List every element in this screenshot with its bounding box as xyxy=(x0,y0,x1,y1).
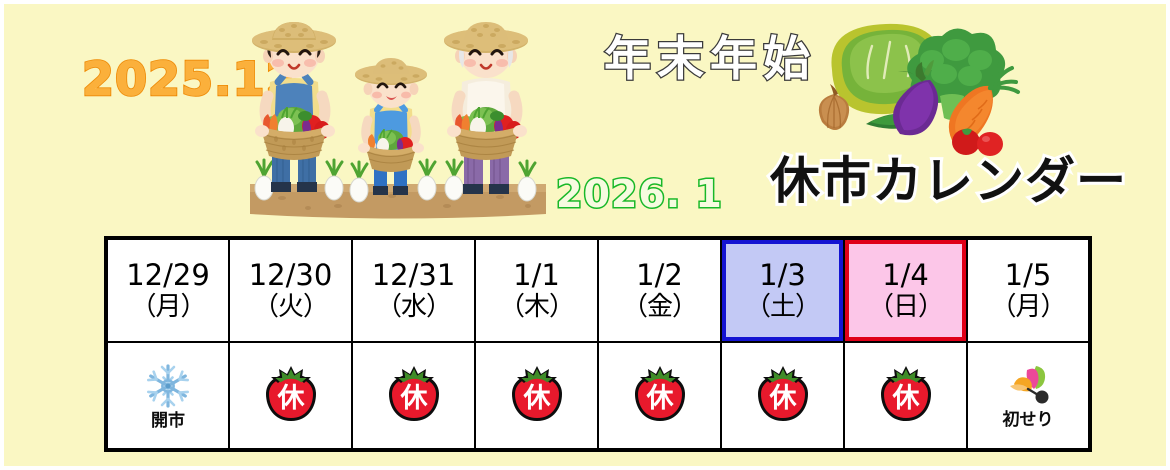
date-number: 12/30 xyxy=(249,258,333,292)
calendar-poster: 2025.12 xyxy=(0,0,1170,470)
date-number: 1/3 xyxy=(759,258,806,292)
date-number: 1/5 xyxy=(1005,258,1052,292)
svg-text:休: 休 xyxy=(891,383,920,414)
svg-text:休: 休 xyxy=(399,383,428,414)
date-number: 1/4 xyxy=(882,258,929,292)
date-number: 1/2 xyxy=(636,258,683,292)
status-caption: 開市 xyxy=(151,413,185,430)
date-dayofweek: （土） xyxy=(745,292,820,323)
status-cell-0-open[interactable]: 開市 xyxy=(106,342,229,450)
status-caption: 初せり xyxy=(1003,412,1054,429)
page-title: 休市カレンダー xyxy=(770,156,1127,206)
date-dayofweek: （水） xyxy=(376,292,451,323)
snowflake-icon xyxy=(143,361,193,411)
strawberry-closed-icon: 休 xyxy=(877,363,935,427)
date-dayofweek: （木） xyxy=(499,292,574,323)
date-number: 12/31 xyxy=(372,258,456,292)
date-cell-5-saturday[interactable]: 1/3 （土） xyxy=(721,238,844,342)
farmers-illustration xyxy=(242,16,554,221)
status-cell-7-open[interactable]: 初せり xyxy=(967,342,1090,450)
date-dayofweek: （月） xyxy=(130,292,205,323)
date-cell-2[interactable]: 12/31 （水） xyxy=(352,238,475,342)
status-cell-5-closed[interactable]: 休 xyxy=(721,342,844,450)
status-cell-1-closed[interactable]: 休 xyxy=(229,342,352,450)
svg-text:休: 休 xyxy=(522,383,551,414)
svg-text:休: 休 xyxy=(768,383,797,414)
status-cell-4-closed[interactable]: 休 xyxy=(598,342,721,450)
status-cell-6-closed[interactable]: 休 xyxy=(844,342,967,450)
date-dayofweek: （月） xyxy=(990,292,1065,323)
strawberry-closed-icon: 休 xyxy=(631,363,689,427)
vegetables-illustration xyxy=(804,12,1066,157)
date-cell-0[interactable]: 12/29 （月） xyxy=(106,238,229,342)
strawberry-closed-icon: 休 xyxy=(385,363,443,427)
year-label-2026: 2026. 1 xyxy=(556,175,723,213)
status-cell-2-closed[interactable]: 休 xyxy=(352,342,475,450)
hanetsuki-hagoita-icon xyxy=(1002,362,1054,410)
date-dayofweek: （日） xyxy=(868,292,943,323)
strawberry-closed-icon: 休 xyxy=(754,363,812,427)
date-dayofweek: （金） xyxy=(622,292,697,323)
date-cell-7[interactable]: 1/5 （月） xyxy=(967,238,1090,342)
season-title: 年末年始 xyxy=(604,36,816,83)
svg-text:休: 休 xyxy=(645,383,674,414)
date-cell-1[interactable]: 12/30 （火） xyxy=(229,238,352,342)
date-cell-3[interactable]: 1/1 （木） xyxy=(475,238,598,342)
status-cell-3-closed[interactable]: 休 xyxy=(475,342,598,450)
strawberry-closed-icon: 休 xyxy=(262,363,320,427)
strawberry-closed-icon: 休 xyxy=(508,363,566,427)
date-dayofweek: （火） xyxy=(253,292,328,323)
svg-text:休: 休 xyxy=(276,383,305,414)
date-row: 12/29 （月） 12/30 （火） 12/31 （水） xyxy=(106,238,1090,342)
date-cell-4[interactable]: 1/2 （金） xyxy=(598,238,721,342)
date-cell-6-sunday[interactable]: 1/4 （日） xyxy=(844,238,967,342)
date-number: 1/1 xyxy=(513,258,560,292)
holiday-calendar-table: 12/29 （月） 12/30 （火） 12/31 （水） xyxy=(104,236,1092,452)
date-number: 12/29 xyxy=(126,258,210,292)
status-row: 開市 休 xyxy=(106,342,1090,450)
